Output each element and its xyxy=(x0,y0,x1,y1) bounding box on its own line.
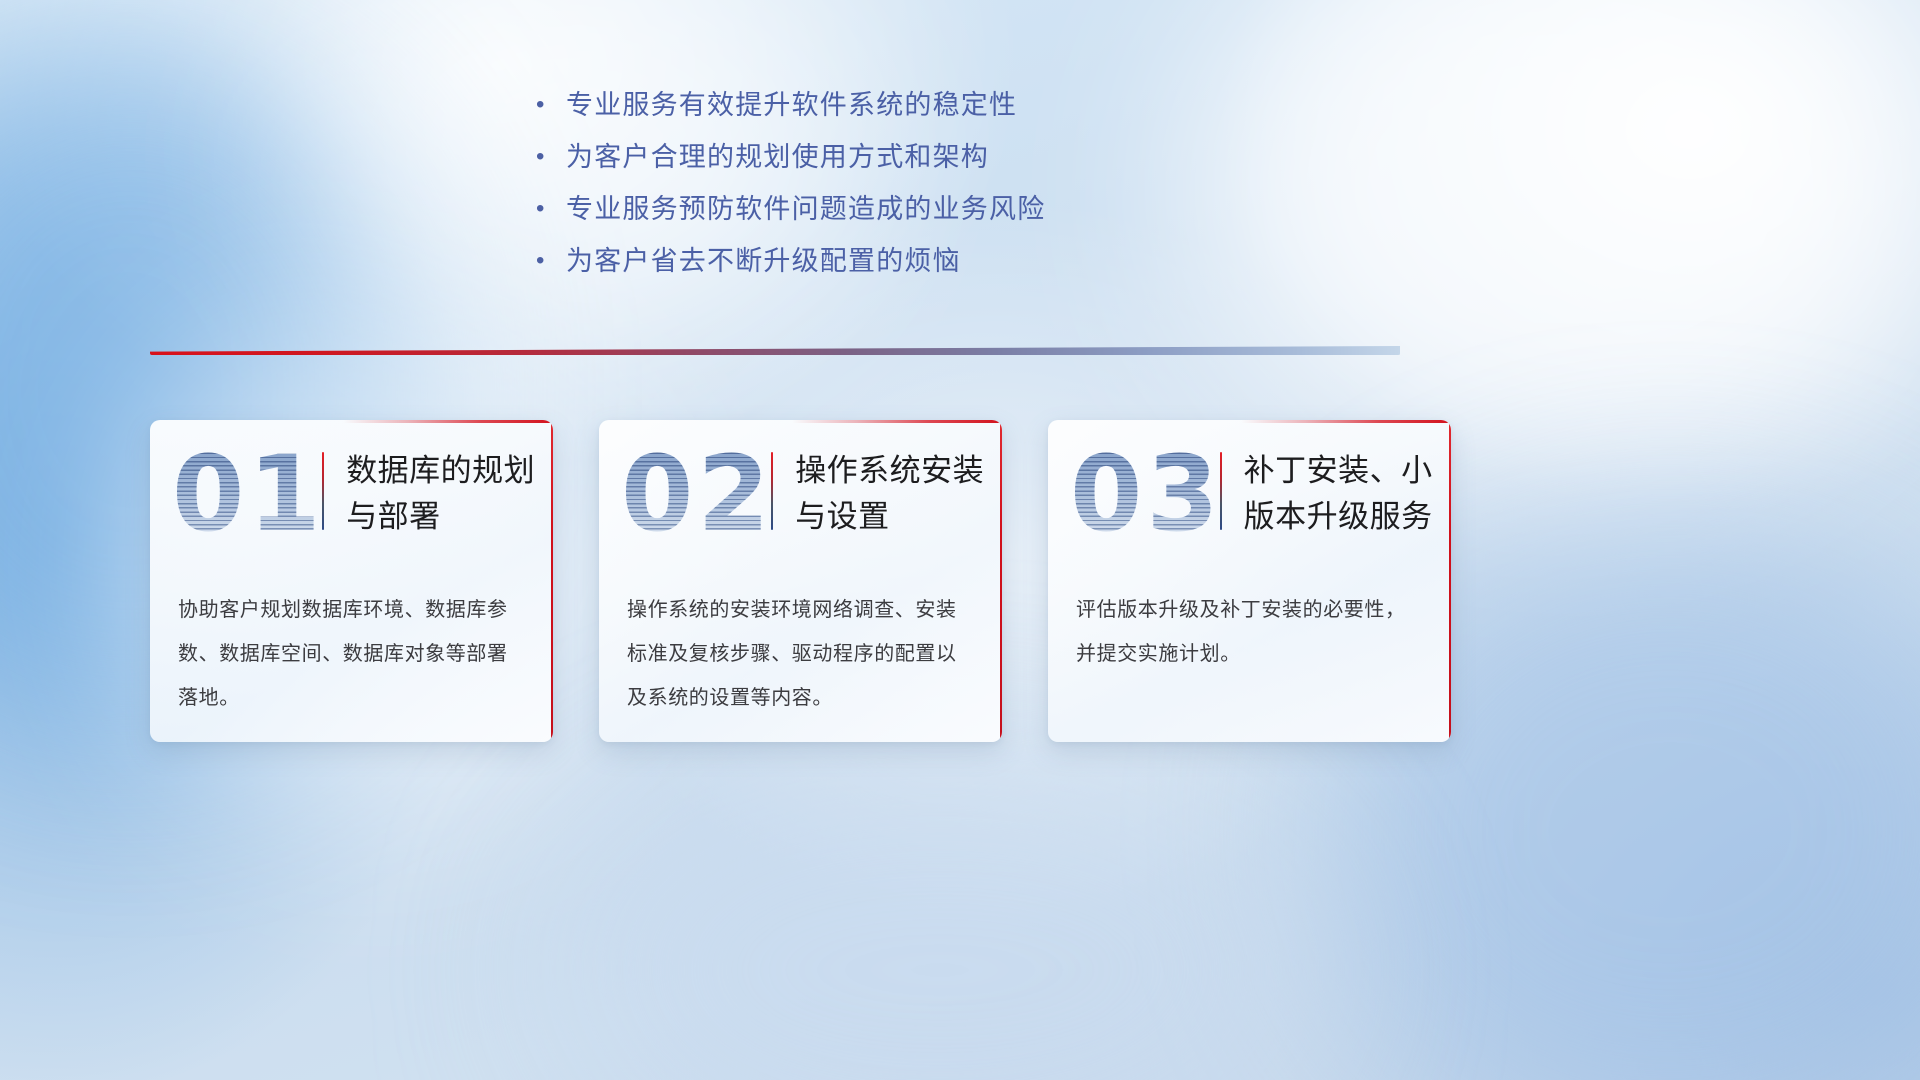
card-number: 03 xyxy=(1070,440,1223,548)
list-item: • 专业服务有效提升软件系统的稳定性 xyxy=(536,86,1436,138)
card-body-text: 协助客户规划数据库环境、数据库参数、数据库空间、数据库对象等部署落地。 xyxy=(178,588,527,720)
card-body-text: 评估版本升级及补丁安装的必要性，并提交实施计划。 xyxy=(1076,588,1425,676)
service-card[interactable]: 02 操作系统安装与设置 操作系统的安装环境网络调查、安装标准及复核步骤、驱动程… xyxy=(599,420,1002,742)
card-header: 01 数据库的规划与部署 xyxy=(150,420,553,568)
service-card[interactable]: 03 补丁安装、小版本升级服务 评估版本升级及补丁安装的必要性，并提交实施计划。 xyxy=(1048,420,1451,742)
service-card-group: 01 数据库的规划与部署 协助客户规划数据库环境、数据库参数、数据库空间、数据库… xyxy=(150,420,1450,742)
bullet-text: 为客户合理的规划使用方式和架构 xyxy=(566,138,989,176)
card-number: 02 xyxy=(621,440,774,548)
card-number: 01 xyxy=(172,440,325,548)
service-card[interactable]: 01 数据库的规划与部署 协助客户规划数据库环境、数据库参数、数据库空间、数据库… xyxy=(150,420,553,742)
card-title: 补丁安装、小版本升级服务 xyxy=(1244,448,1451,540)
background-blob-bottom xyxy=(560,760,1320,1080)
bullet-dot-icon: • xyxy=(536,190,566,228)
bullet-text: 专业服务预防软件问题造成的业务风险 xyxy=(566,190,1045,228)
bullet-dot-icon: • xyxy=(536,138,566,176)
list-item: • 专业服务预防软件问题造成的业务风险 xyxy=(536,190,1436,242)
bullet-text: 专业服务有效提升软件系统的稳定性 xyxy=(566,86,1017,124)
card-title-block: 操作系统安装与设置 xyxy=(771,448,1002,540)
title-accent-bar xyxy=(771,452,773,530)
title-accent-bar xyxy=(1220,452,1222,530)
bullet-dot-icon: • xyxy=(536,242,566,280)
bullet-text: 为客户省去不断升级配置的烦恼 xyxy=(566,242,961,280)
slide-canvas: • 专业服务有效提升软件系统的稳定性 • 为客户合理的规划使用方式和架构 • 专… xyxy=(0,0,1920,1080)
list-item: • 为客户省去不断升级配置的烦恼 xyxy=(536,242,1436,294)
benefits-bullet-list: • 专业服务有效提升软件系统的稳定性 • 为客户合理的规划使用方式和架构 • 专… xyxy=(536,86,1436,294)
card-title-block: 数据库的规划与部署 xyxy=(322,448,553,540)
card-header: 03 补丁安装、小版本升级服务 xyxy=(1048,420,1451,568)
card-title-block: 补丁安装、小版本升级服务 xyxy=(1220,448,1451,540)
card-header: 02 操作系统安装与设置 xyxy=(599,420,1002,568)
card-body-text: 操作系统的安装环境网络调查、安装标准及复核步骤、驱动程序的配置以及系统的设置等内… xyxy=(627,588,976,720)
bullet-dot-icon: • xyxy=(536,86,566,124)
divider-line xyxy=(150,346,1400,355)
card-title: 数据库的规划与部署 xyxy=(346,448,553,540)
title-accent-bar xyxy=(322,452,324,530)
card-title: 操作系统安装与设置 xyxy=(795,448,1002,540)
list-item: • 为客户合理的规划使用方式和架构 xyxy=(536,138,1436,190)
section-divider xyxy=(150,346,1400,362)
